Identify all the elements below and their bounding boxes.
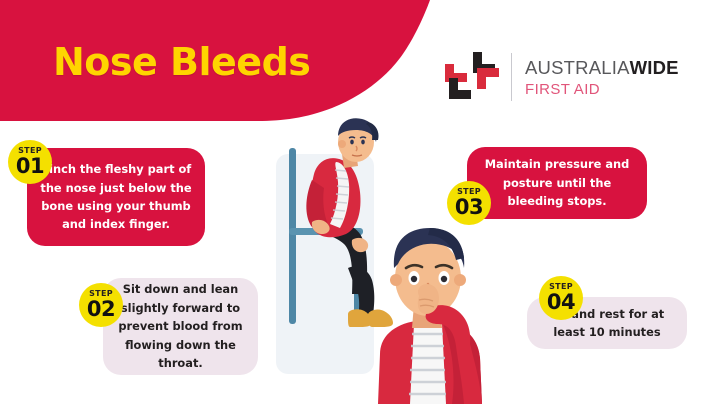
step-03-badge-number: 03	[455, 197, 483, 218]
step-badge-02: STEP 02	[79, 283, 123, 327]
shoe-right	[368, 310, 393, 327]
cross-logo-icon	[443, 48, 501, 106]
nose-pinching-person-figure	[378, 228, 482, 404]
logo-word-australia: AUSTRALIA	[525, 57, 630, 78]
step-badge-01: STEP 01	[8, 140, 52, 184]
step-card-02[interactable]: Sit down and lean slightly forward to pr…	[103, 278, 258, 375]
step-01-text: Pinch the fleshy part of the nose just b…	[39, 160, 193, 234]
logo-divider	[511, 53, 512, 101]
step-04-badge-number: 04	[547, 292, 575, 313]
logo-primary-name: AUSTRALIAWIDE	[525, 59, 679, 78]
closeup-striped-shirt	[409, 324, 446, 404]
step-01-badge-number: 01	[16, 156, 44, 177]
step-02-text: Sit down and lean slightly forward to pr…	[115, 280, 246, 372]
logo-word-wide: WIDE	[630, 57, 679, 78]
brand-logo: AUSTRALIAWIDE FIRST AID	[443, 48, 679, 106]
logo-secondary-name: FIRST AID	[525, 82, 679, 97]
step-badge-04: STEP 04	[539, 276, 583, 320]
page-title: Nose Bleeds	[53, 40, 310, 84]
step-03-text: Maintain pressure and posture until the …	[479, 155, 635, 210]
step-card-01[interactable]: Pinch the fleshy part of the nose just b…	[27, 148, 205, 246]
nose-bleeds-infographic: Nose Bleeds AUSTRALIAWIDE FIRST AID	[0, 0, 720, 404]
step-card-03[interactable]: Maintain pressure and posture until the …	[467, 147, 647, 219]
step-badge-03: STEP 03	[447, 181, 491, 225]
step-02-badge-number: 02	[87, 299, 115, 320]
